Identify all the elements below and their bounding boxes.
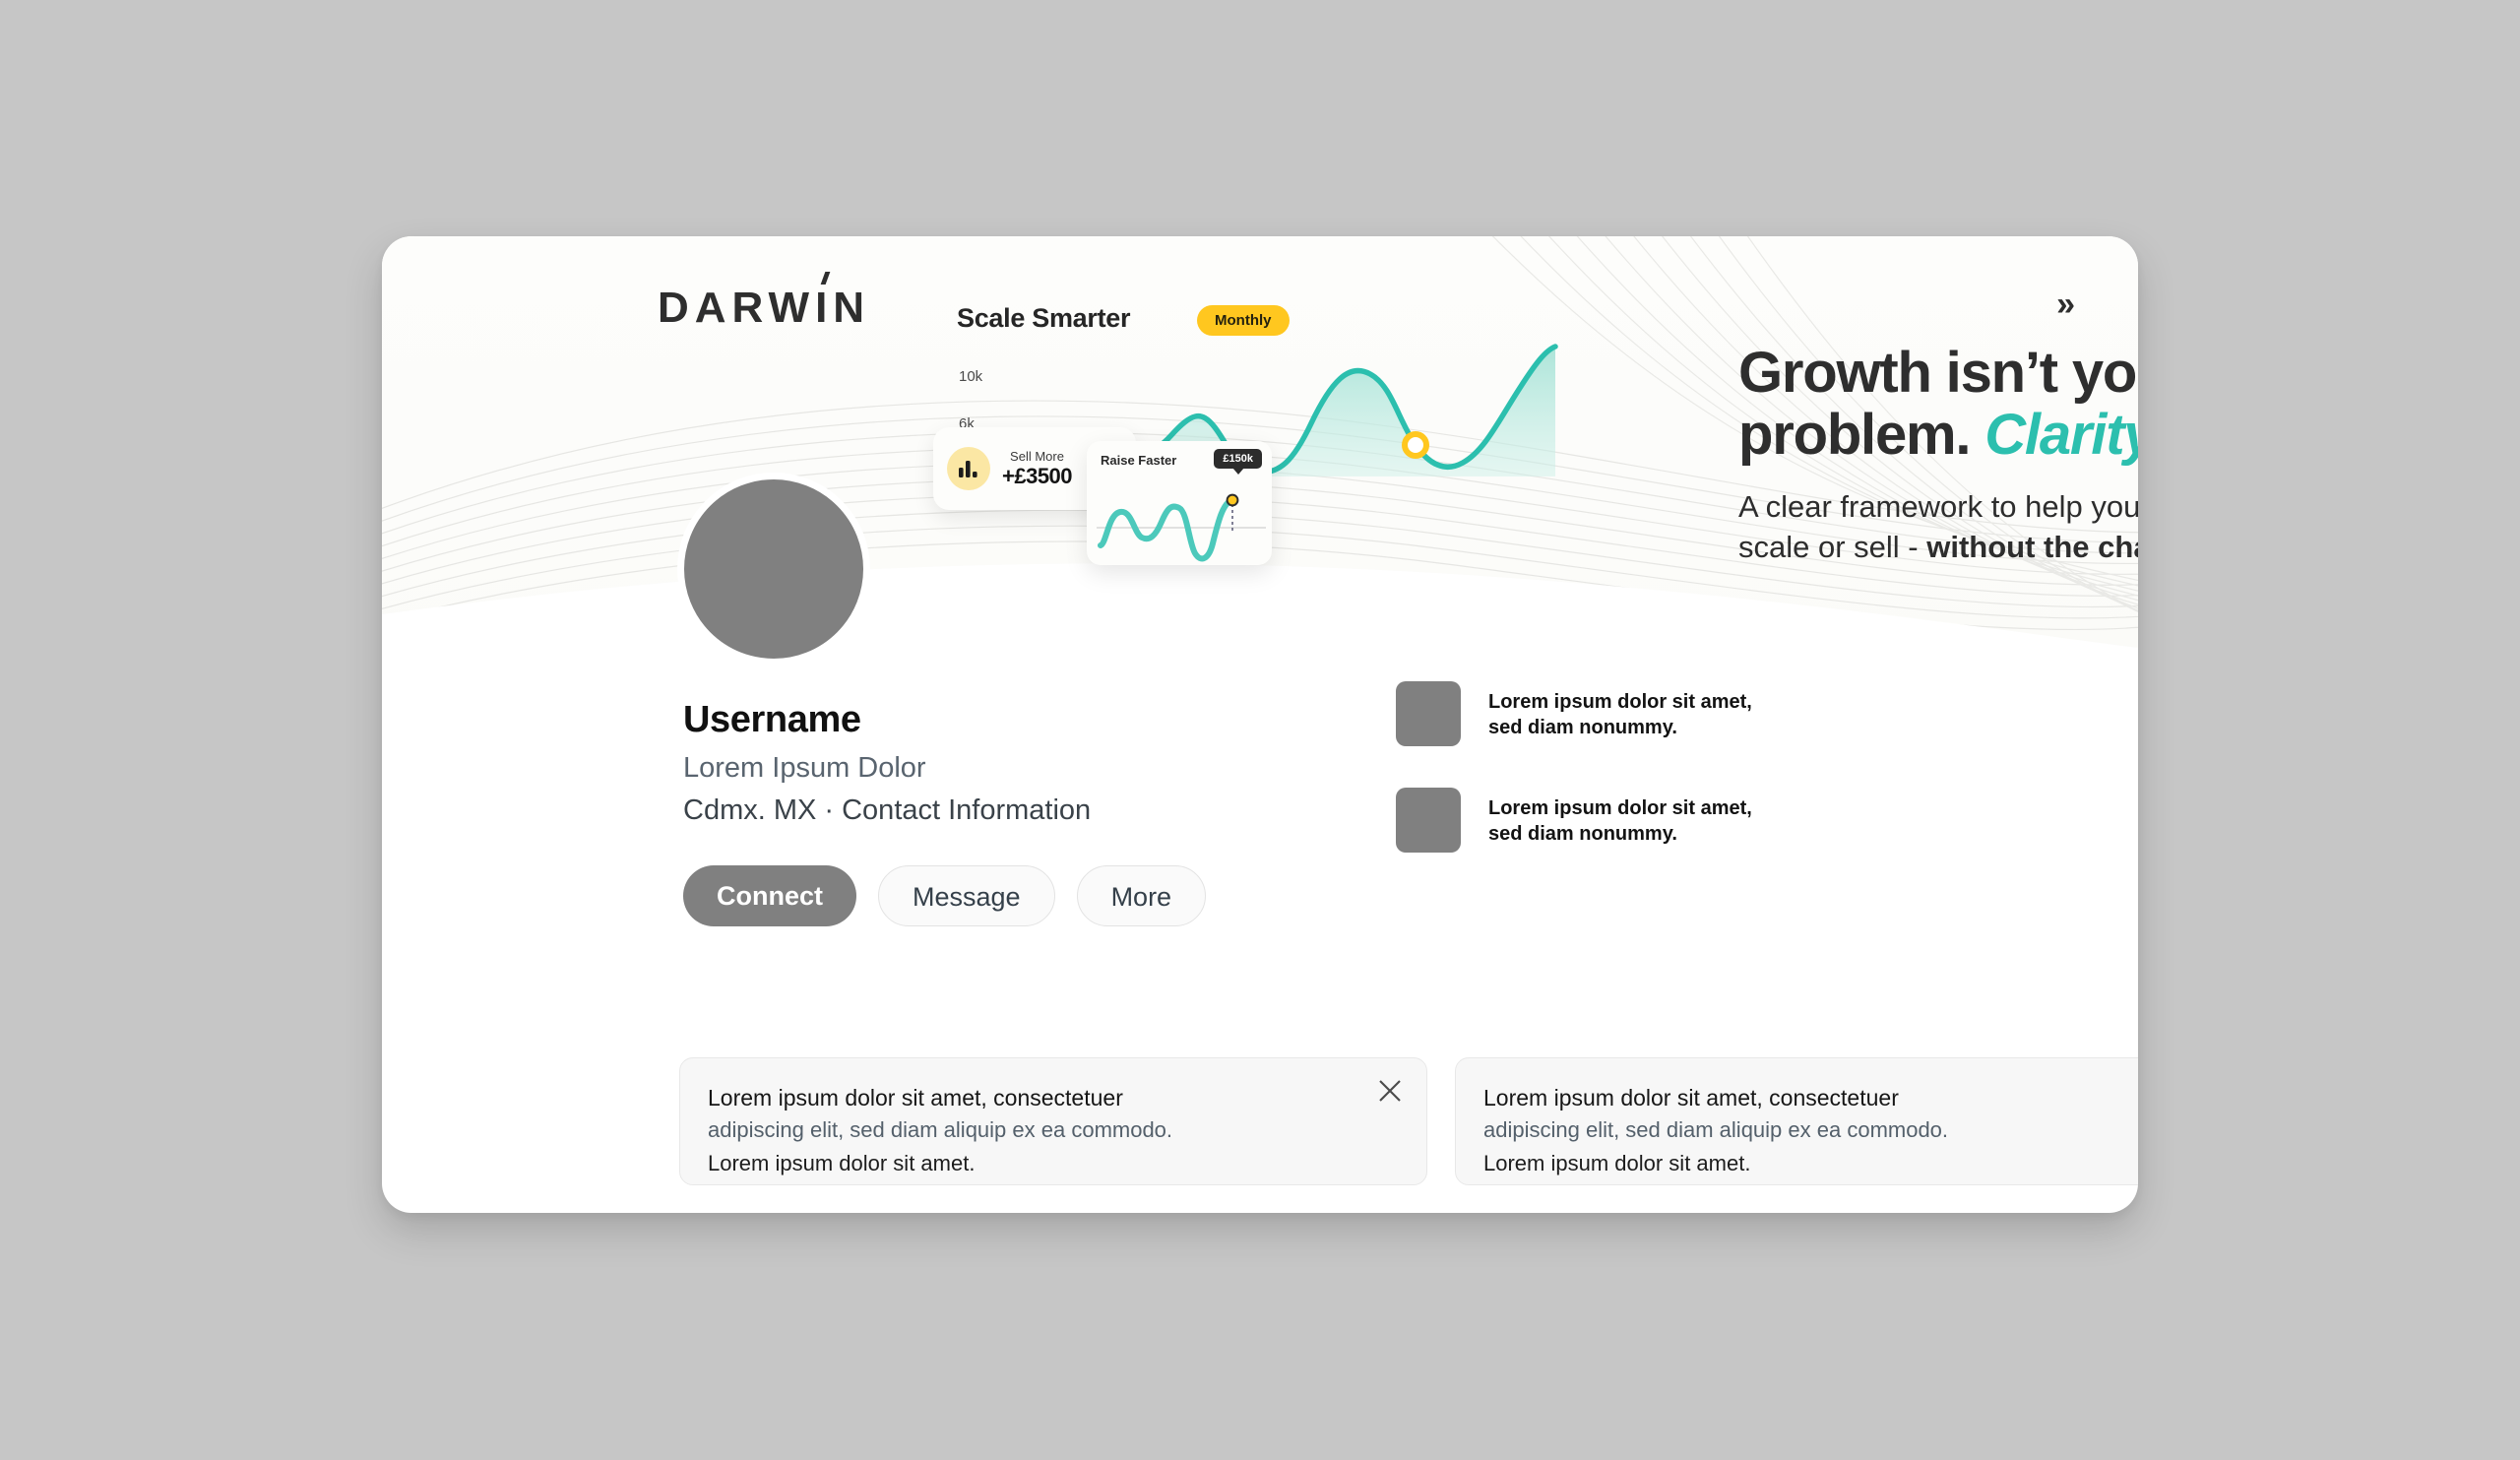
headline-accent: Clarity is. bbox=[1984, 403, 2138, 467]
promo-thumbnail bbox=[1396, 681, 1461, 746]
notification-card: Lorem ipsum dolor sit amet, consectetuer… bbox=[1455, 1057, 2138, 1185]
notification-row: Lorem ipsum dolor sit amet, consectetuer… bbox=[679, 1057, 2138, 1185]
headline-line-1: Growth isn’t your bbox=[1738, 343, 2138, 405]
profile-body: Username Lorem Ipsum Dolor Cdmx. MX · Co… bbox=[382, 662, 2138, 1213]
profile-tagline: Lorem Ipsum Dolor bbox=[683, 752, 926, 785]
notification-line-2: adipiscing elit, sed diam aliquip ex ea … bbox=[708, 1114, 1399, 1145]
more-button[interactable]: More bbox=[1077, 865, 1207, 926]
sell-more-text: Sell More +£3500 bbox=[1002, 449, 1072, 489]
notification-line-3: Lorem ipsum dolor sit amet. bbox=[1483, 1148, 2138, 1178]
list-item[interactable]: Lorem ipsum dolor sit amet, sed diam non… bbox=[1396, 788, 1908, 853]
profile-action-row: Connect Message More bbox=[683, 865, 1206, 926]
message-button[interactable]: Message bbox=[878, 865, 1055, 926]
dashboard-widget: Scale Smarter Monthly 10k 6k bbox=[933, 287, 1622, 642]
list-item[interactable]: Lorem ipsum dolor sit amet, sed diam non… bbox=[1396, 681, 1908, 746]
sell-more-value: +£3500 bbox=[1002, 464, 1072, 489]
logo-text-after: N bbox=[833, 284, 870, 332]
page-title: Username bbox=[683, 699, 861, 741]
profile-location: Cdmx. MX · Contact Information bbox=[683, 794, 1091, 827]
page-root: DARWIN » Growth isn’t your problem. Clar… bbox=[0, 0, 2520, 1460]
promo-text: Lorem ipsum dolor sit amet, sed diam non… bbox=[1488, 788, 1752, 848]
notification-card: Lorem ipsum dolor sit amet, consectetuer… bbox=[679, 1057, 1427, 1185]
subheadline-bold: without the chaos. bbox=[1926, 530, 2138, 564]
notification-line-1: Lorem ipsum dolor sit amet, consectetuer bbox=[1483, 1082, 2138, 1114]
close-icon[interactable] bbox=[1375, 1076, 1405, 1106]
subheadline-line-2: scale or sell - without the chaos. bbox=[1738, 528, 2138, 568]
notification-line-2: adipiscing elit, sed diam aliquip ex ea … bbox=[1483, 1114, 2138, 1145]
chart-marker-dot bbox=[1405, 434, 1426, 456]
promo-list: Lorem ipsum dolor sit amet, sed diam non… bbox=[1396, 681, 1908, 894]
promo-line-2: sed diam nonummy. bbox=[1488, 715, 1752, 740]
raise-marker-dot bbox=[1228, 495, 1238, 506]
raise-faster-line-chart bbox=[1087, 475, 1272, 565]
connect-button[interactable]: Connect bbox=[683, 865, 856, 926]
hero-copy: Growth isn’t your problem. Clarity is. A… bbox=[1738, 343, 2138, 568]
chevron-double-right-icon[interactable]: » bbox=[2048, 284, 2079, 325]
bar-chart-glyph bbox=[958, 459, 979, 478]
headline: Growth isn’t your problem. Clarity is. bbox=[1738, 343, 2138, 466]
promo-text: Lorem ipsum dolor sit amet, sed diam non… bbox=[1488, 681, 1752, 741]
hero-banner: DARWIN » Growth isn’t your problem. Clar… bbox=[382, 236, 2138, 662]
notification-line-1: Lorem ipsum dolor sit amet, consectetuer bbox=[708, 1082, 1399, 1114]
subheadline-line-1: A clear framework to help you raise, bbox=[1738, 487, 2138, 528]
subheadline-plain: scale or sell - bbox=[1738, 530, 1926, 564]
raise-faster-card[interactable]: Raise Faster £150k bbox=[1087, 441, 1272, 565]
promo-line-1: Lorem ipsum dolor sit amet, bbox=[1488, 795, 1752, 821]
y-axis-tick-10k: 10k bbox=[959, 368, 982, 385]
profile-card: DARWIN » Growth isn’t your problem. Clar… bbox=[382, 236, 2138, 1213]
raise-faster-label: Raise Faster bbox=[1101, 453, 1176, 468]
headline-plain: problem. bbox=[1738, 403, 1970, 467]
period-pill-monthly[interactable]: Monthly bbox=[1197, 305, 1290, 336]
headline-line-2: problem. Clarity is. bbox=[1738, 405, 2138, 467]
promo-thumbnail bbox=[1396, 788, 1461, 853]
promo-line-2: sed diam nonummy. bbox=[1488, 821, 1752, 847]
logo-accent-letter: I bbox=[815, 284, 833, 333]
avatar[interactable] bbox=[677, 473, 870, 666]
logo-text-before: DARW bbox=[658, 284, 815, 332]
notification-line-3: Lorem ipsum dolor sit amet. bbox=[708, 1148, 1399, 1178]
raise-faster-tooltip: £150k bbox=[1214, 449, 1262, 469]
bar-chart-icon bbox=[947, 447, 990, 490]
dashboard-title: Scale Smarter bbox=[957, 303, 1130, 334]
brand-logo: DARWIN bbox=[658, 284, 870, 333]
subheadline: A clear framework to help you raise, sca… bbox=[1738, 487, 2138, 568]
sell-more-label: Sell More bbox=[1010, 449, 1064, 464]
promo-line-1: Lorem ipsum dolor sit amet, bbox=[1488, 689, 1752, 715]
